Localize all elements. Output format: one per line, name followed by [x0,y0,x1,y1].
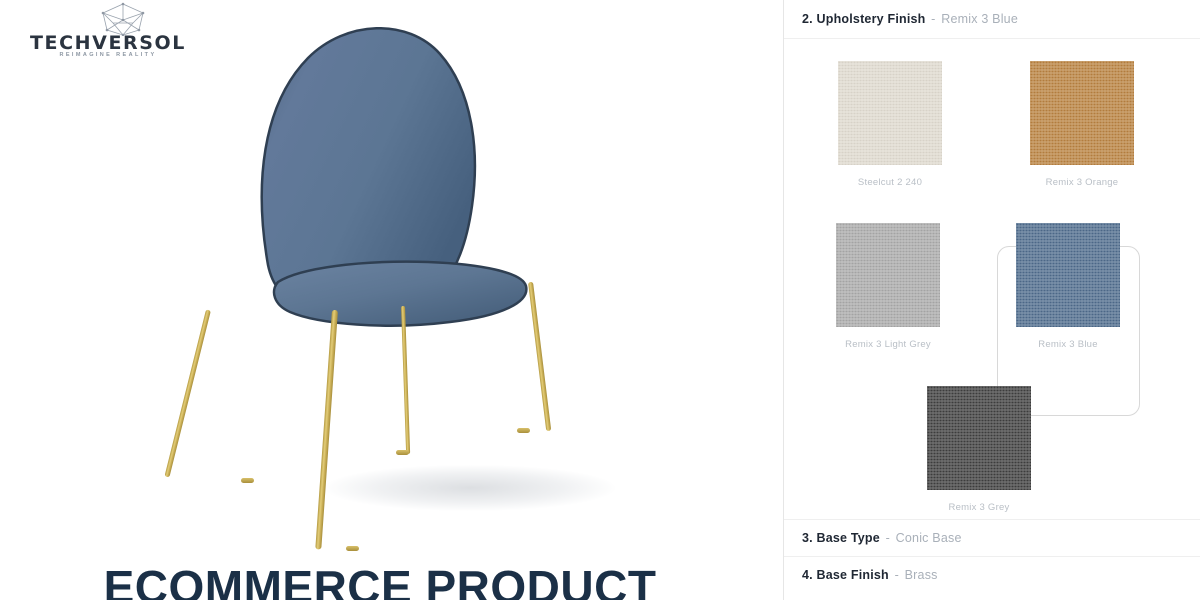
weave-texture [1030,61,1134,165]
upholstery-dash: - [929,12,937,26]
base-type-dash: - [884,531,892,545]
swatch-chip-4[interactable] [927,386,1031,490]
swatch-option-1[interactable]: Remix 3 Orange [1003,61,1161,188]
product-image-chair [150,10,630,570]
upholstery-selected-value: Remix 3 Blue [941,12,1018,26]
base-finish-dash: - [893,568,901,582]
base-type-selected-value: Conic Base [896,531,962,545]
upholstery-step-index: 2. [802,12,813,26]
swatch-label-3: Remix 3 Blue [989,339,1147,350]
product-configurator-page: TECHVERSOL REIMAGINE REALITY [0,0,1200,600]
swatch-option-2[interactable]: Remix 3 Light Grey [809,223,967,350]
upholstery-row-title: 2. Upholstery Finish - Remix 3 Blue [802,12,1018,26]
upholstery-title-text: Upholstery Finish [817,12,926,26]
chair-foot-front-left [346,546,359,551]
chair-shell [150,10,630,480]
weave-texture [836,223,940,327]
upholstery-swatch-grid: Steelcut 2 240 Remix 3 Orange Remix 3 Li… [784,39,1200,519]
weave-texture [1016,223,1120,327]
base-finish-row-title: 4. Base Finish - Brass [802,568,938,582]
config-row-upholstery[interactable]: 2. Upholstery Finish - Remix 3 Blue [784,0,1200,39]
base-type-step-index: 3. [802,531,813,545]
base-finish-title-text: Base Finish [817,568,889,582]
swatch-label-2: Remix 3 Light Grey [809,339,967,350]
base-type-row-title: 3. Base Type - Conic Base [802,531,962,545]
config-row-base-finish[interactable]: 4. Base Finish - Brass [784,556,1200,593]
configurator-panel: 2. Upholstery Finish - Remix 3 Blue Stee… [783,0,1200,600]
product-preview-pane: TECHVERSOL REIMAGINE REALITY [0,0,783,600]
swatch-option-4[interactable]: Remix 3 Grey [900,386,1058,513]
config-row-base-type[interactable]: 3. Base Type - Conic Base [784,519,1200,556]
swatch-option-3-selected[interactable]: Remix 3 Blue [989,223,1147,350]
base-finish-step-index: 4. [802,568,813,582]
weave-texture [927,386,1031,490]
page-headline: ECOMMERCE PRODUCT [0,560,760,600]
swatch-chip-1[interactable] [1030,61,1134,165]
swatch-label-0: Steelcut 2 240 [811,177,969,188]
swatch-chip-3[interactable] [1016,223,1120,327]
weave-texture [838,61,942,165]
chair-foot-front-right [396,450,409,455]
swatch-chip-2[interactable] [836,223,940,327]
geometric-cube-wireframe-icon [96,2,150,36]
swatch-label-4: Remix 3 Grey [900,502,1058,513]
swatch-label-1: Remix 3 Orange [1003,177,1161,188]
base-finish-selected-value: Brass [905,568,938,582]
swatch-option-0[interactable]: Steelcut 2 240 [811,61,969,188]
swatch-chip-0[interactable] [838,61,942,165]
base-type-title-text: Base Type [817,531,880,545]
